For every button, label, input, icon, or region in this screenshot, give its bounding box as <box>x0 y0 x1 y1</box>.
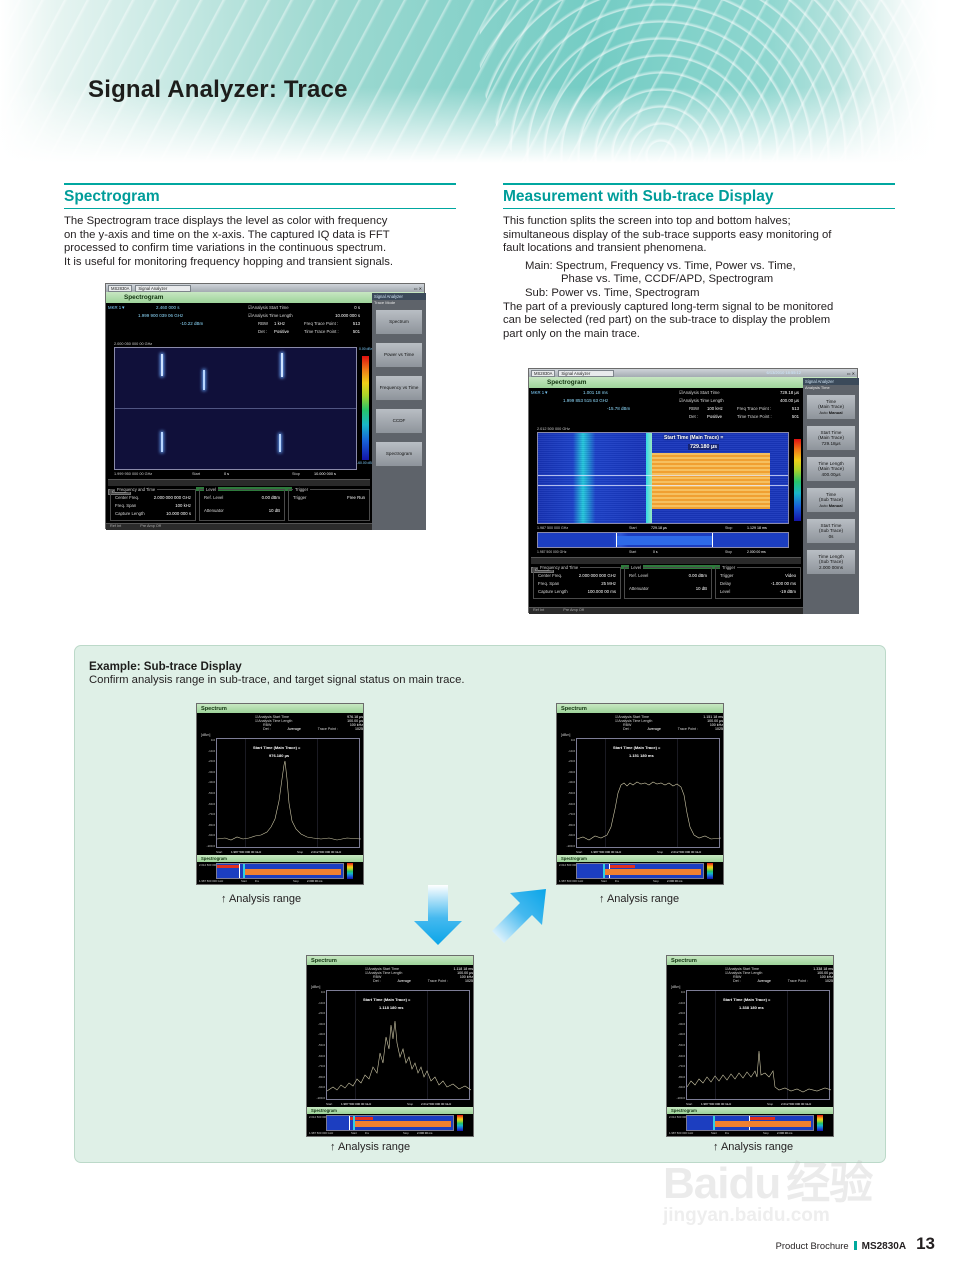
screen1-analysis-time-length-label: ☑Analysis Time Length <box>248 313 293 319</box>
ytick: 0.0 <box>321 990 325 994</box>
panel1-det-label: Det : <box>263 727 271 731</box>
panel3-spectrum-plot[interactable]: Start Time (Main Trace) = 1.118 180 ms <box>326 990 470 1100</box>
panel4-sub-spectrogram[interactable] <box>686 1115 814 1131</box>
screen2-center-freq-label: Center Freq. <box>538 573 562 578</box>
screen2-trigger: Video <box>785 573 796 578</box>
panel4-sub-start-label: Start <box>711 1131 717 1135</box>
softkey-auto[interactable]: Auto <box>819 410 827 415</box>
watermark-brand-cjk: 经验 <box>786 1163 872 1205</box>
panel3-sub-mode-bar: Spectrogram <box>307 1107 473 1114</box>
screen1-analysis-time-length: 10.000 000 s <box>335 313 360 318</box>
sub-selection-edge <box>712 533 713 547</box>
panel2-sub-start: 0 s <box>615 879 619 883</box>
screen2-rbw-label: RBW <box>689 406 699 411</box>
screen1-capture-length-label: Capture Length <box>115 511 145 516</box>
panel1-mode-bar: Spectrum <box>197 704 363 713</box>
screen2-sub-axis-start-label: Start <box>629 550 636 554</box>
panel1-det: Average <box>288 727 301 731</box>
screen1-mode-title: Spectrogram <box>124 294 163 301</box>
subtrace-heading: Measurement with Sub-trace Display <box>503 183 895 209</box>
burst-body <box>652 453 770 509</box>
panel2-axis-stop: 2.012 500 000 00 GHz <box>671 850 701 854</box>
panel1-mode-title: Spectrum <box>201 706 227 712</box>
sub-selection-edge <box>349 1116 350 1130</box>
panel4-sub-title: Spectrogram <box>671 1108 697 1113</box>
screen2-common-tabbar[interactable]: Common <box>531 557 801 564</box>
softkey-time-length-main-trace[interactable]: Time Length (Main Trace) 400.00µs <box>806 456 856 482</box>
sub-burst <box>245 869 341 875</box>
trace-midline <box>115 408 356 409</box>
panel4-spectrum-plot[interactable]: Start Time (Main Trace) = 1.338 180 ms <box>686 990 830 1100</box>
page-footer: Product Brochure MS2830A 13 <box>776 1234 935 1254</box>
softkey-time-length-sub-trace[interactable]: Time Length (Sub Trace) 2.000 00ms <box>806 549 856 575</box>
panel2-det-label: Det : <box>623 727 631 731</box>
page-title: Signal Analyzer: Trace <box>88 76 348 104</box>
screen1-rbw: 1 kHz <box>274 321 285 326</box>
panel4-y-axis: 0.0 -10.0 -20.0 -30.0 -40.0 -50.0 -60.0 … <box>669 990 685 1100</box>
panel2-trace-curve <box>577 739 721 849</box>
instrument-screenshot-subtrace[interactable]: MS2830A Signal Analyzer ▭ ✕ Spectrogram … <box>528 368 858 613</box>
screen1-level-legend: Level <box>204 487 218 492</box>
screen2-sub-axis-stop: 2.000 00 ms <box>747 550 766 554</box>
softkey-value: 0s <box>829 534 834 540</box>
panel3-axis-start: 1.987 500 000 00 GHz <box>341 1102 371 1106</box>
softkey-start-time-main-trace[interactable]: Start Time (Main Trace) 729.18µs <box>806 425 856 451</box>
sub-selection-region[interactable] <box>609 865 635 868</box>
trace-burst <box>281 353 283 377</box>
panel3-axis-stop: 2.012 500 000 00 GHz <box>421 1102 451 1106</box>
panel3-det-label: Det : <box>373 979 381 983</box>
softkey-spectrogram[interactable]: Spectrogram <box>375 441 423 467</box>
ytick: -80.0 <box>208 823 215 827</box>
subtrace-list-3: Sub: Power vs. Time, Spectrogram <box>503 287 895 301</box>
panel4-det: Average <box>758 979 771 983</box>
screen2-analysis-start-time-label: ☑Analysis Start Time <box>679 390 720 396</box>
screen1-softkey-title: Signal Analyzer <box>372 293 426 300</box>
screen2-status-mid: Pre Amp Off <box>563 608 584 612</box>
analysis-range-label-3: ↑ Analysis range <box>330 1141 410 1153</box>
screen2-freq-span-label: Freq. Span <box>538 581 559 586</box>
screen1-app-name: Signal Analyzer <box>135 285 191 292</box>
sub-burst-edge <box>713 1116 715 1130</box>
panel2-y-axis: 0.0 -10.0 -20.0 -30.0 -40.0 -50.0 -60.0 … <box>559 738 575 848</box>
watermark-url: jingyan.baidu.com <box>663 1205 913 1227</box>
screen2-callout-line1: Start Time (Main Trace) = <box>664 435 723 441</box>
softkey-time-main-trace[interactable]: Time (Main Trace) Auto Manual <box>806 394 856 420</box>
ytick: -10.0 <box>678 1001 685 1005</box>
panel4-det-label: Det : <box>733 979 741 983</box>
panel2-sub-stop-label: Stop <box>653 879 659 883</box>
panel4-sub-start: 0 s <box>725 1131 729 1135</box>
sub-burst-edge <box>603 864 605 878</box>
screen1-status-left: Ref Int <box>110 524 121 528</box>
flow-arrow-down-icon <box>412 885 464 947</box>
screen2-level: -19 dBm <box>780 589 796 594</box>
panel1-sub-start: 0 s <box>255 879 259 883</box>
screen2-time-trace-point: 501 <box>792 414 799 419</box>
panel2-mode-title: Spectrum <box>561 706 587 712</box>
screen2-status-left: Ref Int <box>533 608 544 612</box>
subtrace-body: This function splits the screen into top… <box>503 215 895 341</box>
screen1-softkey-panel[interactable]: Signal Analyzer Trace Mode Spectrum Powe… <box>372 293 426 530</box>
panel2-sub-title: Spectrogram <box>561 856 587 861</box>
analysis-range-label-4: ↑ Analysis range <box>713 1141 793 1153</box>
softkey-power-vs-time[interactable]: Power vs Time <box>375 342 423 368</box>
screen2-color-scale <box>794 439 801 521</box>
screen2-softkey-sub: Analysis Time <box>803 385 859 392</box>
footer-label: Product Brochure <box>776 1240 849 1251</box>
subtrace-line-6: part only on the main trace. <box>503 328 895 342</box>
screen2-datetime: 6/13/2010 18:55:12 <box>767 370 801 375</box>
instrument-screenshot-spectrogram[interactable]: MS2830A Signal Analyzer ▭ ✕ Spectrogram … <box>105 283 425 529</box>
ytick: -40.0 <box>318 1032 325 1036</box>
screen1-freq-trace-point: 513 <box>353 321 360 326</box>
panel3-y-axis: 0.0 -10.0 -20.0 -30.0 -40.0 -50.0 -60.0 … <box>309 990 325 1100</box>
ytick: -50.0 <box>208 791 215 795</box>
screen1-marker-time: 2.460 000 s <box>156 305 180 310</box>
ytick: -50.0 <box>318 1043 325 1047</box>
screen2-sub-axis-stop-label: Stop <box>725 550 732 554</box>
panel1-trace-point: 1025 <box>355 727 363 731</box>
spectrogram-line-3: processed to confirm time variations in … <box>64 242 456 256</box>
panel4-trace-curve <box>687 991 831 1101</box>
ytick: -70.0 <box>678 1064 685 1068</box>
panel4-color-scale <box>817 1115 823 1131</box>
screen2-analysis-time-length: 400.00 µs <box>780 398 799 403</box>
screen2-main-spectrogram-plot[interactable]: Start Time (Main Trace) = 729.180 µs <box>537 432 789 524</box>
ytick: -40.0 <box>678 1032 685 1036</box>
screen2-softkey-panel[interactable]: Signal Analyzer Analysis Time Time (Main… <box>803 378 859 614</box>
analysis-range-label-1: ↑ Analysis range <box>221 893 301 905</box>
panel3-det: Average <box>398 979 411 983</box>
ytick: -80.0 <box>678 1075 685 1079</box>
panel4-sub-bot-freq: 1.987 500 000 GHz <box>669 1131 693 1135</box>
screen1-trigger-legend: Trigger <box>293 487 310 492</box>
trace-burst <box>279 434 281 452</box>
subtrace-line-3: fault locations and transient phenomena. <box>503 242 895 256</box>
screen1-attenuator: 10 dB <box>269 508 280 513</box>
screen1-titlebar: MS2830A Signal Analyzer ▭ ✕ <box>106 284 424 292</box>
window-controls-icon[interactable]: ▭ ✕ <box>414 286 422 291</box>
ytick: -50.0 <box>568 791 575 795</box>
panel2-sub-stop: 2.000 00 ms <box>667 879 682 883</box>
screen1-det-label: Det : <box>258 329 267 334</box>
softkey-spectrum[interactable]: Spectrum <box>375 309 423 335</box>
screen1-axis-top-freq: 2.000 050 000 00 GHz <box>114 342 152 346</box>
screen2-callout-line2: 729.180 µs <box>688 444 719 450</box>
screen1-rbw-label: RBW <box>258 321 268 326</box>
example-panel-4[interactable]: Spectrum ☑Analysis Start Time1.338 18 ms… <box>666 955 834 1137</box>
panel3-trace-point: 1025 <box>465 979 473 983</box>
screen2-det: Positive <box>707 414 722 419</box>
panel4-sub-mode-bar: Spectrogram <box>667 1107 833 1114</box>
panel2-trace-point: 1025 <box>715 727 723 731</box>
spectrogram-line-1: The Spectrogram trace displays the level… <box>64 215 456 229</box>
ytick: -20.0 <box>678 1011 685 1015</box>
spectrogram-body: The Spectrogram trace displays the level… <box>64 215 456 269</box>
ytick: 0.0 <box>211 738 215 742</box>
panel1-sub-start-label: Start <box>241 879 247 883</box>
panel1-sub-title: Spectrogram <box>201 856 227 861</box>
marker-line-horizontal <box>538 485 788 486</box>
panel2-axis-start: 1.987 500 000 00 GHz <box>591 850 621 854</box>
banner-right-fade <box>839 0 959 168</box>
spectrogram-line-2: on the y-axis and time on the x-axis. Th… <box>64 229 456 243</box>
sub-burst-edge <box>353 1116 355 1130</box>
label-text: Analysis Time Length <box>252 313 293 318</box>
subtrace-line-2: simultaneous display of the sub-trace su… <box>503 229 895 243</box>
screen1-freq-time-legend: Frequency and Time <box>115 487 157 492</box>
panel3-sub-start-label: Start <box>351 1131 357 1135</box>
ytick: -10.0 <box>318 1001 325 1005</box>
example-panel-1[interactable]: Spectrum ☑Analysis Start Time976.18 µs ☑… <box>196 703 364 885</box>
ytick: -90.0 <box>318 1085 325 1089</box>
screen2-trigger-label: Trigger <box>720 573 733 578</box>
screen2-freq-time-box: Frequency and Time Center Freq.2.000 000… <box>533 567 621 599</box>
screen2-marker-freq: 1.999 853 515 63 GHz <box>563 398 608 403</box>
ytick: -70.0 <box>568 812 575 816</box>
panel1-axis-stop: 2.012 500 000 00 GHz <box>311 850 341 854</box>
subtrace-list-2: Phase vs. Time, CCDF/APD, Spectrogram <box>503 273 895 287</box>
screen2-mode-title: Spectrogram <box>547 379 586 386</box>
sub-selection-region[interactable] <box>217 865 239 868</box>
screen2-analysis-start-time: 729.18 µs <box>780 390 799 395</box>
screen1-axis-bot-freq: 1.999 950 000 00 GHz <box>114 472 152 476</box>
screen2-time-trace-point-label: Time Trace Point : <box>737 414 772 419</box>
ytick: -40.0 <box>568 780 575 784</box>
screen2-main-axis-start-label: Start <box>629 526 637 530</box>
baidu-watermark: Baidu 经验 jingyan.baidu.com <box>663 1163 913 1243</box>
panel2-sub-start-label: Start <box>601 879 607 883</box>
panel1-trace-curve <box>217 739 361 849</box>
panel3-readout: ☑Analysis Start Time1.118 18 ms ☑Analysi… <box>365 967 473 983</box>
panel4-y-unit: [dBm] <box>671 985 680 989</box>
screen1-trigger: Free Run <box>347 495 365 500</box>
example-panel-3[interactable]: Spectrum ☑Analysis Start Time1.118 18 ms… <box>306 955 474 1137</box>
softkey-value: 400.00µs <box>822 472 841 478</box>
screen2-freq-span: 25 MHz <box>601 581 616 586</box>
screen1-trigger-label: Trigger <box>293 495 306 500</box>
screen1-softkey-sub: Trace Mode <box>372 300 426 307</box>
panel2-sub-mode-bar: Spectrogram <box>557 855 723 862</box>
screen1-analysis-start-time: 0 s <box>354 305 360 310</box>
screen2-axis-top-freq: 2.012 500 000 GHz <box>537 427 570 431</box>
panel4-axis-stop: 2.012 500 000 00 GHz <box>781 1102 811 1106</box>
trace-burst <box>161 432 163 452</box>
screen1-common-tabbar[interactable]: Common <box>108 479 370 486</box>
screen1-trigger-box: Trigger TriggerFree Run <box>288 489 370 521</box>
panel3-sub-stop-label: Stop <box>403 1131 409 1135</box>
screen2-sub-axis-start: 0 s <box>653 550 658 554</box>
softkey-ccdf[interactable]: CCDF <box>375 408 423 434</box>
watermark-brand: Baidu <box>663 1163 780 1205</box>
trace-burst <box>203 370 205 390</box>
screen1-brand: MS2830A <box>108 285 132 292</box>
subtrace-line-4: The part of a previously captured long-t… <box>503 301 895 315</box>
screen2-app-name: Signal Analyzer <box>558 370 614 377</box>
screen2-sub-spectrogram-strip[interactable] <box>537 532 789 548</box>
ytick: -100.0 <box>316 1096 325 1100</box>
softkey-value: 2.000 00ms <box>819 565 843 571</box>
panel2-y-unit: [dBm] <box>561 733 570 737</box>
panel1-axis-start-label: Start <box>216 850 222 854</box>
sub-burst <box>355 1121 451 1127</box>
screen1-status-mid: Pre Amp Off <box>140 524 161 528</box>
panel2-mode-bar: Spectrum <box>557 704 723 713</box>
ytick: -60.0 <box>208 802 215 806</box>
screen2-center-freq: 2.000 000 000 GHz <box>579 573 616 578</box>
example-subtitle: Confirm analysis range in sub-trace, and… <box>89 674 465 686</box>
screen1-axis-start: 0 s <box>224 472 229 476</box>
panel3-sub-spectrogram[interactable] <box>326 1115 454 1131</box>
screen1-axis-stop: 10.000 000 s <box>314 472 336 476</box>
screen2-attenuator: 10 dB <box>696 586 707 591</box>
screen1-ref-level-label: Ref. Level <box>204 495 223 500</box>
panel2-readout: ☑Analysis Start Time1.151 18 ms ☑Analysi… <box>615 715 723 731</box>
panel1-sub-mode-bar: Spectrogram <box>197 855 363 862</box>
ytick: -60.0 <box>318 1054 325 1058</box>
panel3-axis-start-label: Start <box>326 1102 332 1106</box>
screen1-spectrogram-plot[interactable] <box>114 347 357 470</box>
screen2-capture-length: 100.000 00 ms <box>588 589 616 594</box>
panel1-color-scale <box>347 863 353 879</box>
label-text: Analysis Time Length <box>683 398 724 403</box>
panel2-det: Average <box>648 727 661 731</box>
screen1-marker-level: -10.22 dBm <box>180 321 203 326</box>
sub-burst-edge <box>243 864 245 878</box>
softkey-start-time-sub-trace[interactable]: Start Time (Sub Trace) 0s <box>806 518 856 544</box>
section-spectrogram: Spectrogram The Spectrogram trace displa… <box>64 183 456 269</box>
screen2-main-axis-stop: 1.129 18 ms <box>747 526 767 530</box>
ytick: -20.0 <box>208 759 215 763</box>
sub-selection-edge <box>616 533 617 547</box>
ytick: -90.0 <box>568 833 575 837</box>
screen1-freq-time-box: Frequency and Time Center Freq.2.000 000… <box>110 489 196 521</box>
panel3-axis-stop-label: Stop <box>407 1102 413 1106</box>
section-subtrace: Measurement with Sub-trace Display This … <box>503 183 895 341</box>
panel4-sub-stop-label: Stop <box>763 1131 769 1135</box>
ytick: 0.0 <box>681 990 685 994</box>
screen2-sub-axis-bot: 1.987 500 000 GHz <box>537 550 566 554</box>
screen2-det-label: Det : <box>689 414 698 419</box>
screen1-freq-trace-point-label: Freq Trace Point : <box>304 321 338 326</box>
softkey-manual[interactable]: Manual <box>829 410 843 415</box>
screen2-main-axis-stop-label: Stop <box>725 526 732 530</box>
ytick: -80.0 <box>318 1075 325 1079</box>
ytick: -100.0 <box>676 1096 685 1100</box>
screen1-time-trace-point: 501 <box>353 329 360 334</box>
softkey-manual[interactable]: Manual <box>829 503 843 508</box>
ytick: -30.0 <box>318 1022 325 1026</box>
sub-burst <box>605 869 701 875</box>
screen2-axis-bot-freq: 1.987 500 000 GHz <box>537 526 568 530</box>
screen2-trigger-legend: Trigger <box>720 565 737 570</box>
ytick: -30.0 <box>678 1022 685 1026</box>
panel2-axis-stop-label: Stop <box>657 850 663 854</box>
panel2-color-scale <box>707 863 713 879</box>
softkey-auto[interactable]: Auto <box>819 503 827 508</box>
ytick: -100.0 <box>566 844 575 848</box>
panel1-sub-bot-freq: 1.987 500 000 GHz <box>199 879 223 883</box>
softkey-frequency-vs-time[interactable]: Frequency vs Time <box>375 375 423 401</box>
example-panel-2[interactable]: Spectrum ☑Analysis Start Time1.151 18 ms… <box>556 703 724 885</box>
panel1-trace-point-label: Trace Point : <box>318 727 338 731</box>
sub-selection-edge <box>239 864 240 878</box>
panel4-axis-start: 1.987 500 000 00 GHz <box>701 1102 731 1106</box>
panel4-sub-stop: 2.000 00 ms <box>777 1131 792 1135</box>
screen2-analysis-time-length-label: ☑Analysis Time Length <box>679 398 724 404</box>
sub-burst <box>715 1121 811 1127</box>
ytick: -50.0 <box>678 1043 685 1047</box>
screen1-center-freq: 2.000 000 000 GHz <box>154 495 191 500</box>
panel3-sub-bot-freq: 1.987 500 000 GHz <box>309 1131 333 1135</box>
flow-arrow-up-right-icon <box>490 885 552 947</box>
panel2-trace-point-label: Trace Point : <box>678 727 698 731</box>
panel4-axis-stop-label: Stop <box>767 1102 773 1106</box>
panel3-mode-bar: Spectrum <box>307 956 473 965</box>
ytick: -90.0 <box>678 1085 685 1089</box>
screen2-freq-trace-point: 513 <box>792 406 799 411</box>
screen2-level-box: Level Ref. Level0.00 dBm Attenuator10 dB <box>624 567 712 599</box>
screen1-color-scale <box>362 356 369 460</box>
sub-selection-region[interactable] <box>749 1117 775 1120</box>
screen2-delay-label: Delay <box>720 581 731 586</box>
screen1-readout: MKR 1▼ 2.460 000 s 1.999 900 039 06 GHz … <box>108 305 360 341</box>
screen2-titlebar: MS2830A Signal Analyzer ▭ ✕ <box>529 369 857 377</box>
panel3-sub-start: 0 s <box>365 1131 369 1135</box>
panel3-color-scale <box>457 1115 463 1131</box>
panel2-spectrum-plot[interactable]: Start Time (Main Trace) = 1.151 180 ms <box>576 738 720 848</box>
screen2-main-axis-start: 729.18 µs <box>651 526 667 530</box>
panel1-sub-spectrogram[interactable] <box>216 863 344 879</box>
panel1-sub-stop-label: Stop <box>293 879 299 883</box>
screen2-delay: -1.000 00 ms <box>771 581 796 586</box>
panel4-readout: ☑Analysis Start Time1.338 18 ms ☑Analysi… <box>725 967 833 983</box>
panel1-spectrum-plot[interactable]: Start Time (Main Trace) = 976.180 µs <box>216 738 360 848</box>
screen1-analysis-start-time-label: ☑Analysis Start Time <box>248 305 289 311</box>
subtrace-list-1: Main: Spectrum, Frequency vs. Time, Powe… <box>503 260 895 274</box>
window-controls-icon[interactable]: ▭ ✕ <box>847 371 855 376</box>
ytick: -10.0 <box>568 749 575 753</box>
softkey-value: 729.18µs <box>822 441 841 447</box>
screen2-readout: MKR 1▼ 1.001 18 ms 1.999 853 515 63 GHz … <box>531 390 799 426</box>
ytick: -70.0 <box>318 1064 325 1068</box>
screen2-ref-level-label: Ref. Level <box>629 573 648 578</box>
screen1-time-trace-point-label: Time Trace Point : <box>304 329 339 334</box>
softkey-time-sub-trace[interactable]: Time (Sub Trace) Auto Manual <box>806 487 856 513</box>
panel3-sub-title: Spectrogram <box>311 1108 337 1113</box>
sub-selection-region[interactable] <box>616 536 712 545</box>
panel1-y-axis: 0.0 -10.0 -20.0 -30.0 -40.0 -50.0 -60.0 … <box>199 738 215 848</box>
ytick: -20.0 <box>568 759 575 763</box>
panel1-axis-stop-label: Stop <box>297 850 303 854</box>
screen2-marker-time: 1.001 18 ms <box>583 390 608 395</box>
panel1-readout: ☑Analysis Start Time976.18 µs ☑Analysis … <box>255 715 363 731</box>
panel1-y-unit: [dBm] <box>201 733 210 737</box>
label-text: Analysis Start Time <box>683 390 720 395</box>
ytick: -100.0 <box>206 844 215 848</box>
panel2-sub-spectrogram[interactable] <box>576 863 704 879</box>
spectrogram-heading: Spectrogram <box>64 183 456 209</box>
ytick: -30.0 <box>568 770 575 774</box>
panel2-sub-bot-freq: 1.987 500 000 GHz <box>559 879 583 883</box>
ytick: -60.0 <box>678 1054 685 1058</box>
panel4-axis-start-label: Start <box>686 1102 692 1106</box>
screen1-center-freq-label: Center Freq. <box>115 495 139 500</box>
ytick: -80.0 <box>568 823 575 827</box>
panel1-sub-stop: 2.000 00 ms <box>307 879 322 883</box>
footer-model: MS2830A <box>862 1241 906 1252</box>
